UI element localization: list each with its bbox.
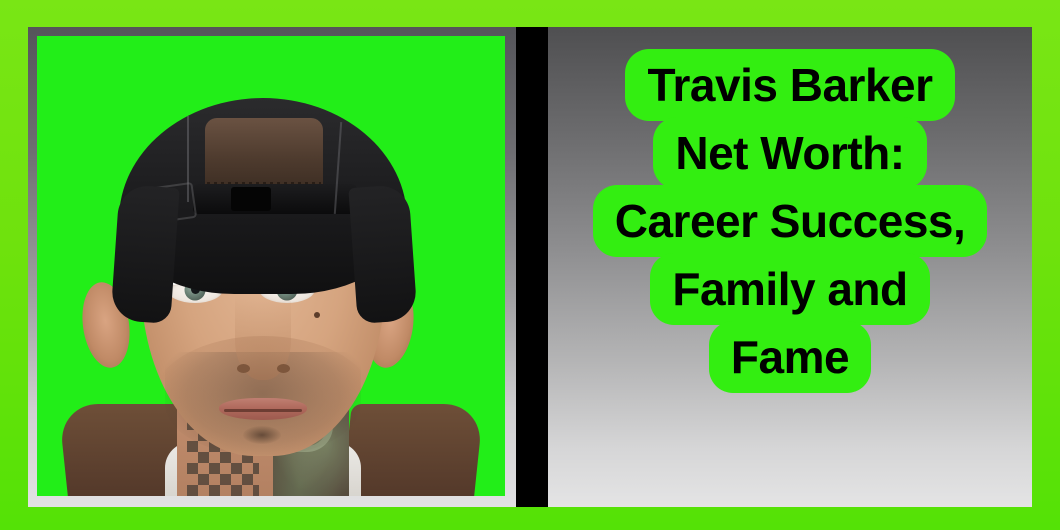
- title-line-4: Family and: [650, 253, 929, 325]
- title-block: Travis Barker Net Worth: Career Success,…: [548, 51, 1032, 391]
- cap-buckle: [231, 187, 271, 211]
- title-line-3: Career Success,: [593, 185, 988, 257]
- subject-photo: [37, 36, 505, 496]
- title-line-5: Fame: [709, 321, 871, 393]
- cheek-mole: [314, 312, 320, 318]
- photo-frame: [28, 27, 516, 507]
- title-line-2: Net Worth:: [653, 117, 926, 189]
- thumbnail-canvas: Travis Barker Net Worth: Career Success,…: [0, 0, 1060, 530]
- panel-divider: [516, 27, 548, 507]
- mouth: [219, 398, 307, 420]
- nostril-right: [277, 364, 290, 373]
- cap-opening-hair: [205, 118, 323, 192]
- cap-side-left: [110, 184, 179, 324]
- title-line-1: Travis Barker: [625, 49, 954, 121]
- nostril-left: [237, 364, 250, 373]
- soul-patch: [243, 426, 281, 444]
- cap-side-right: [348, 184, 417, 324]
- cap-strap: [193, 184, 357, 214]
- text-panel: Travis Barker Net Worth: Career Success,…: [548, 27, 1032, 507]
- portrait-illustration: [37, 36, 505, 496]
